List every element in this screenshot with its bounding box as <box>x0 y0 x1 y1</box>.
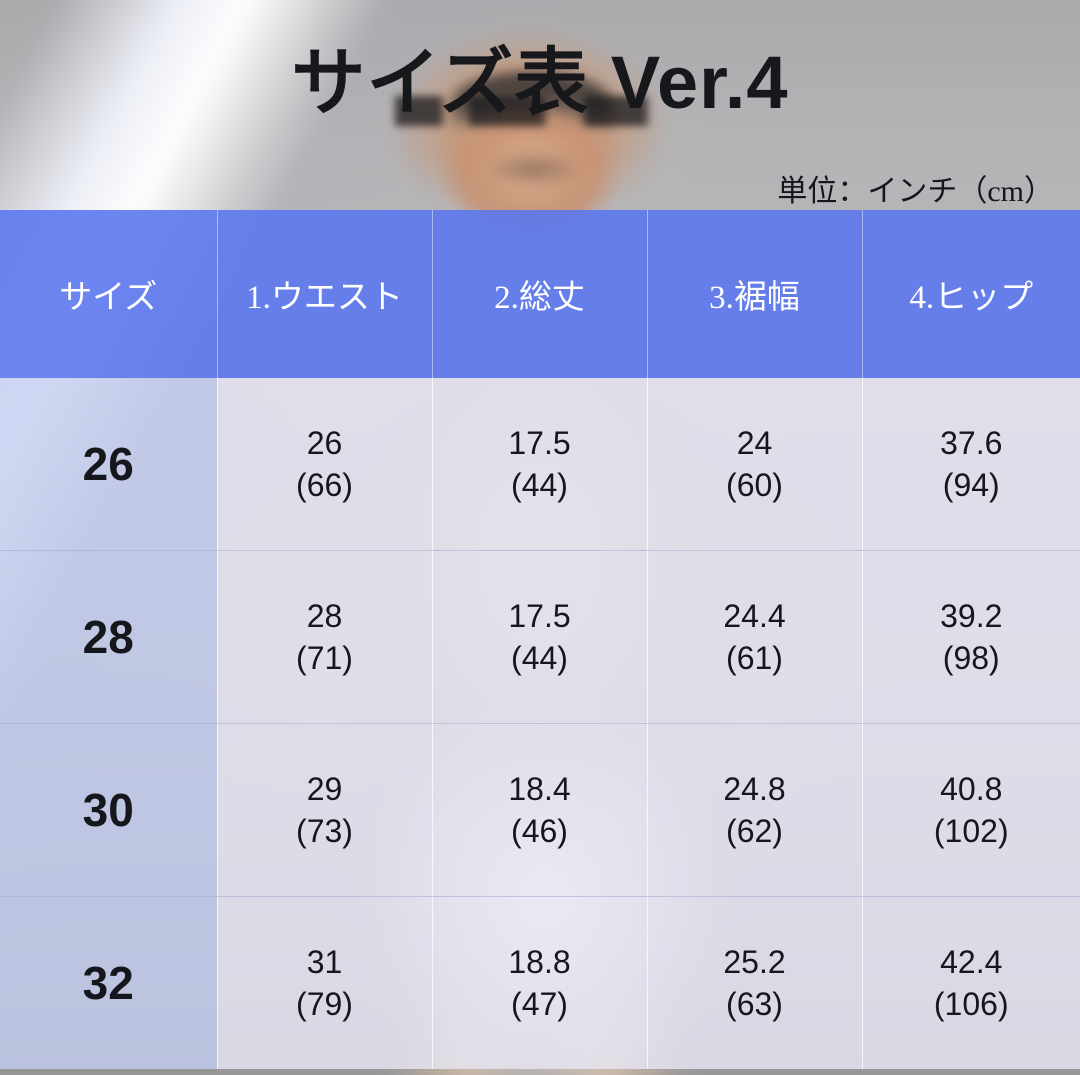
value-inch: 42.4 <box>864 941 1080 983</box>
cell-hip: 39.2 (98) <box>862 551 1080 724</box>
value-centimeter: (94) <box>864 464 1080 506</box>
value-inch: 17.5 <box>434 595 646 637</box>
cell-hem: 24.8 (62) <box>647 724 862 897</box>
value-centimeter: (79) <box>219 983 431 1025</box>
cell-size: 30 <box>0 724 217 897</box>
cell-waist: 31 (79) <box>217 897 432 1070</box>
value-centimeter: (63) <box>649 983 861 1025</box>
unit-note: 単位：インチ（cm） <box>777 166 1054 210</box>
cell-waist: 29 (73) <box>217 724 432 897</box>
value-inch: 28 <box>219 595 431 637</box>
cell-waist: 26 (66) <box>217 378 432 551</box>
value-inch: 31 <box>219 941 431 983</box>
column-header-length: 2.総丈 <box>432 210 647 378</box>
cell-hem: 25.2 (63) <box>647 897 862 1070</box>
cell-hem: 24 (60) <box>647 378 862 551</box>
value-centimeter: (102) <box>864 810 1080 852</box>
value-centimeter: (46) <box>434 810 646 852</box>
cell-size: 32 <box>0 897 217 1070</box>
table-body: 26 26 (66) 17.5 (44) 24 (60) 37.6 (94) <box>0 378 1080 1069</box>
table-row: 28 28 (71) 17.5 (44) 24.4 (61) 39.2 (98) <box>0 551 1080 724</box>
column-header-hip: 4.ヒップ <box>862 210 1080 378</box>
cell-length: 17.5 (44) <box>432 378 647 551</box>
column-header-hem: 3.裾幅 <box>647 210 862 378</box>
value-inch: 26 <box>219 422 431 464</box>
cell-hip: 42.4 (106) <box>862 897 1080 1070</box>
table-header-row: サイズ 1.ウエスト 2.総丈 3.裾幅 4.ヒップ <box>0 210 1080 378</box>
value-centimeter: (62) <box>649 810 861 852</box>
cell-length: 17.5 (44) <box>432 551 647 724</box>
cell-size: 28 <box>0 551 217 724</box>
cell-hem: 24.4 (61) <box>647 551 862 724</box>
cell-hip: 37.6 (94) <box>862 378 1080 551</box>
value-centimeter: (47) <box>434 983 646 1025</box>
cell-waist: 28 (71) <box>217 551 432 724</box>
size-chart-page: サイズ表 Ver.4 単位：インチ（cm） サイズ 1.ウエスト 2.総丈 3.… <box>0 0 1080 1075</box>
value-inch: 17.5 <box>434 422 646 464</box>
value-centimeter: (61) <box>649 637 861 679</box>
value-inch: 24.8 <box>649 768 861 810</box>
value-inch: 18.8 <box>434 941 646 983</box>
column-header-size: サイズ <box>0 210 217 378</box>
value-centimeter: (73) <box>219 810 431 852</box>
table-row: 32 31 (79) 18.8 (47) 25.2 (63) 42.4 (106… <box>0 897 1080 1070</box>
table-row: 30 29 (73) 18.4 (46) 24.8 (62) 40.8 (102… <box>0 724 1080 897</box>
value-centimeter: (98) <box>864 637 1080 679</box>
value-inch: 40.8 <box>864 768 1080 810</box>
value-inch: 25.2 <box>649 941 861 983</box>
value-inch: 29 <box>219 768 431 810</box>
value-inch: 39.2 <box>864 595 1080 637</box>
value-centimeter: (44) <box>434 637 646 679</box>
size-table: サイズ 1.ウエスト 2.総丈 3.裾幅 4.ヒップ 26 26 (66) 17… <box>0 210 1080 1069</box>
cell-length: 18.8 (47) <box>432 897 647 1070</box>
value-centimeter: (66) <box>219 464 431 506</box>
value-centimeter: (44) <box>434 464 646 506</box>
value-centimeter: (60) <box>649 464 861 506</box>
cell-hip: 40.8 (102) <box>862 724 1080 897</box>
footer-strip <box>0 1046 1080 1075</box>
page-title: サイズ表 Ver.4 <box>0 44 1080 122</box>
value-inch: 18.4 <box>434 768 646 810</box>
cell-length: 18.4 (46) <box>432 724 647 897</box>
value-inch: 24.4 <box>649 595 861 637</box>
cell-size: 26 <box>0 378 217 551</box>
value-centimeter: (71) <box>219 637 431 679</box>
column-header-waist: 1.ウエスト <box>217 210 432 378</box>
table-header: サイズ 1.ウエスト 2.総丈 3.裾幅 4.ヒップ <box>0 210 1080 378</box>
value-inch: 37.6 <box>864 422 1080 464</box>
table-row: 26 26 (66) 17.5 (44) 24 (60) 37.6 (94) <box>0 378 1080 551</box>
value-centimeter: (106) <box>864 983 1080 1025</box>
value-inch: 24 <box>649 422 861 464</box>
